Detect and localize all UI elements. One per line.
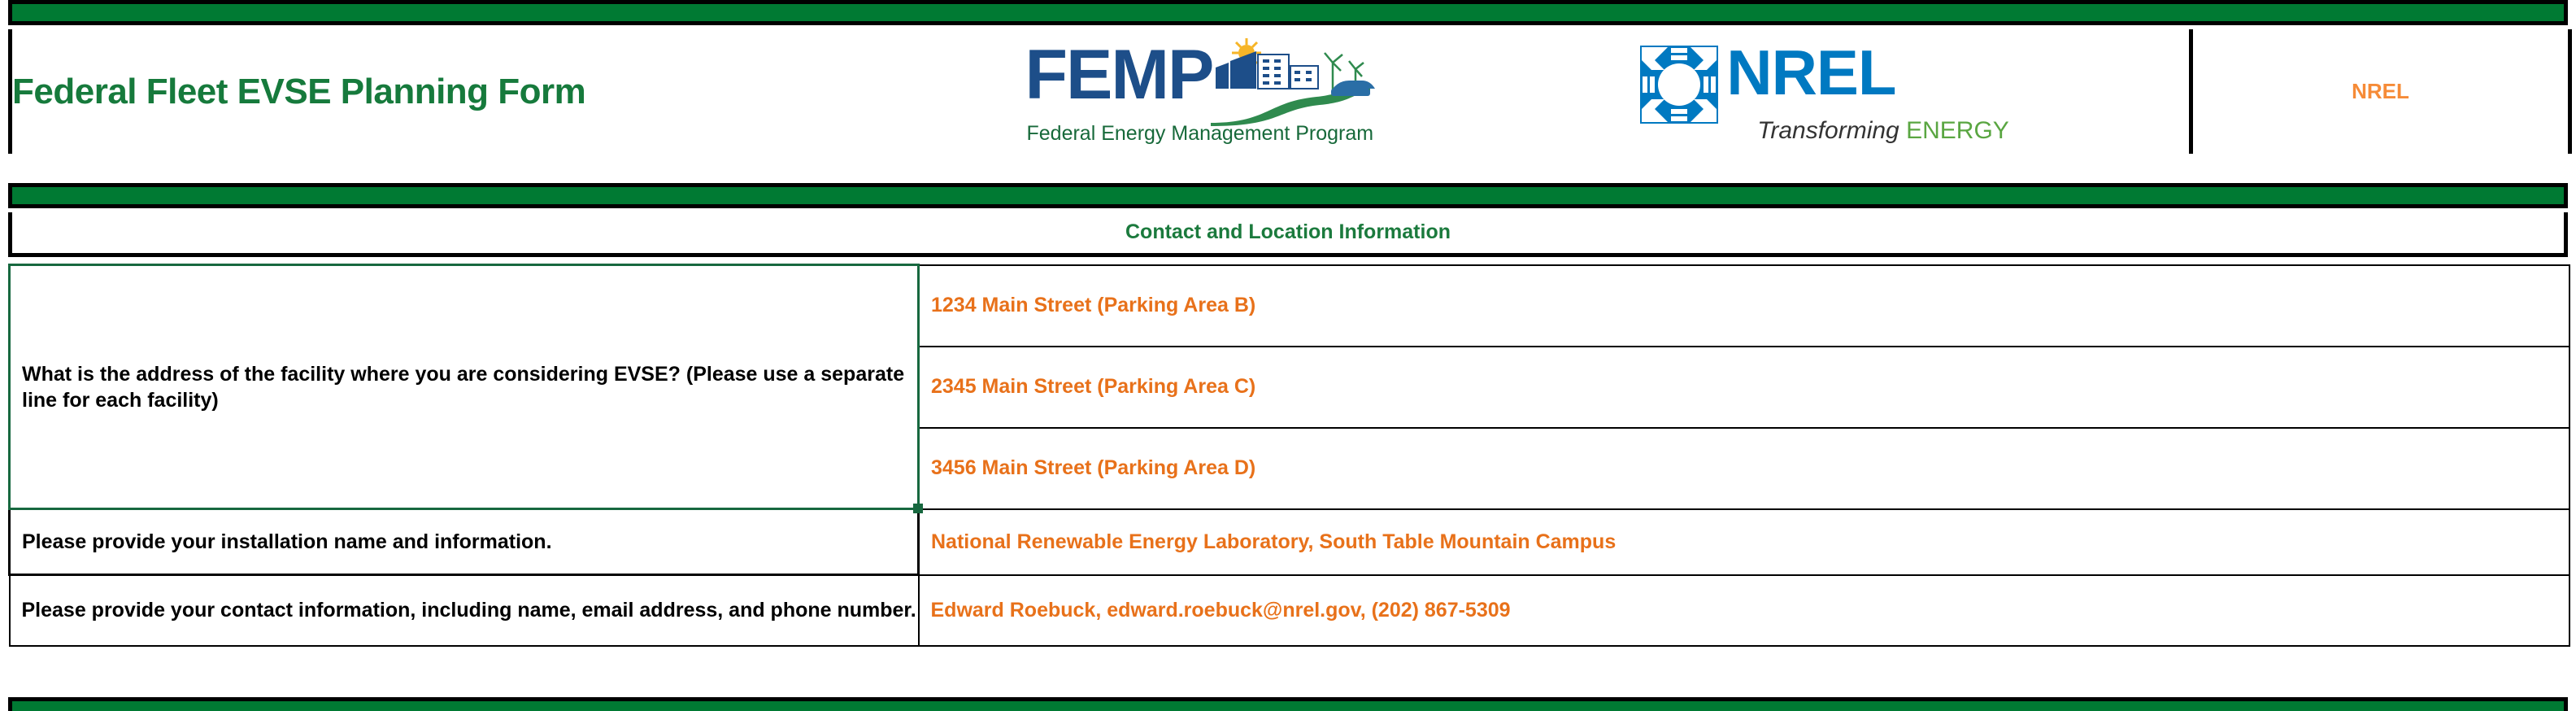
femp-logo-cell: FEMP xyxy=(920,29,1538,154)
form-title-cell: Federal Fleet EVSE Planning Form xyxy=(11,29,920,154)
femp-logo: FEMP xyxy=(1025,35,1432,149)
table-row: Please provide your installation name an… xyxy=(10,509,2569,575)
spreadsheet-form: Federal Fleet EVSE Planning Form FEMP xyxy=(0,0,2576,709)
question-label-contact: Please provide your contact information,… xyxy=(22,599,916,622)
nrel-sunburst-icon xyxy=(1640,46,1718,124)
nrel-tagline-energy: ENERGY xyxy=(1906,117,2009,144)
femp-graphic-icon xyxy=(1211,38,1430,126)
nrel-tagline-transforming: Transforming xyxy=(1757,117,1899,144)
mid-banner-table xyxy=(8,183,2568,208)
nrel-label-cell: NREL xyxy=(2191,29,2570,154)
header-row: Federal Fleet EVSE Planning Form FEMP xyxy=(11,29,2570,154)
page-title: Federal Fleet EVSE Planning Form xyxy=(12,72,920,112)
section-title: Contact and Location Information xyxy=(1125,220,1451,243)
femp-tagline: Federal Energy Management Program xyxy=(1027,122,1374,146)
femp-acronym: FEMP xyxy=(1025,40,1213,110)
question-cell-installation[interactable]: Please provide your installation name an… xyxy=(10,509,919,575)
answer-value-address-2: 2345 Main Street (Parking Area C) xyxy=(931,375,1255,398)
question-cell-address[interactable]: What is the address of the facility wher… xyxy=(10,265,919,509)
nrel-tagline: Transforming ENERGY xyxy=(1757,119,2009,143)
nrel-logo: NREL Transforming ENERGY xyxy=(1635,39,2091,145)
answer-cell-installation[interactable]: National Renewable Energy Laboratory, So… xyxy=(919,509,2569,575)
table-row: Please provide your contact information,… xyxy=(10,575,2569,646)
answer-value-address-3: 3456 Main Street (Parking Area D) xyxy=(931,456,1255,479)
answer-value-contact: Edward Roebuck, edward.roebuck@nrel.gov,… xyxy=(931,599,1511,622)
top-green-banner-row xyxy=(11,2,2566,24)
mid-green-banner-row xyxy=(11,185,2566,207)
section-header-row: Contact and Location Information xyxy=(11,212,2566,255)
answer-value-address-1: 1234 Main Street (Parking Area B) xyxy=(931,294,1255,316)
header-logo-table: Federal Fleet EVSE Planning Form FEMP xyxy=(8,29,2572,154)
answer-cell-address-1[interactable]: 1234 Main Street (Parking Area B) xyxy=(919,265,2569,347)
mid-green-banner-cell xyxy=(11,185,2566,207)
top-banner-table xyxy=(8,0,2568,25)
section-header-cell: Contact and Location Information xyxy=(11,212,2566,255)
form-table: What is the address of the facility wher… xyxy=(8,264,2570,647)
answer-cell-address-3[interactable]: 3456 Main Street (Parking Area D) xyxy=(919,428,2569,509)
question-label-address: What is the address of the facility wher… xyxy=(22,363,904,412)
selection-fill-handle[interactable] xyxy=(913,504,923,513)
question-label-installation: Please provide your installation name an… xyxy=(22,530,552,553)
table-row: What is the address of the facility wher… xyxy=(10,265,2569,347)
question-cell-contact[interactable]: Please provide your contact information,… xyxy=(10,575,919,646)
bottom-banner-table xyxy=(8,697,2568,711)
nrel-logo-cell: NREL Transforming ENERGY xyxy=(1538,29,2191,154)
nrel-label: NREL xyxy=(2352,79,2409,103)
bottom-green-banner-row xyxy=(11,700,2566,711)
answer-cell-contact[interactable]: Edward Roebuck, edward.roebuck@nrel.gov,… xyxy=(919,575,2569,646)
top-green-banner-cell xyxy=(11,2,2566,24)
bottom-green-banner-cell xyxy=(11,700,2566,711)
nrel-acronym: NREL xyxy=(1726,41,1895,104)
section-header-table: Contact and Location Information xyxy=(8,212,2568,257)
answer-value-installation: National Renewable Energy Laboratory, So… xyxy=(931,530,1616,553)
answer-cell-address-2[interactable]: 2345 Main Street (Parking Area C) xyxy=(919,347,2569,428)
